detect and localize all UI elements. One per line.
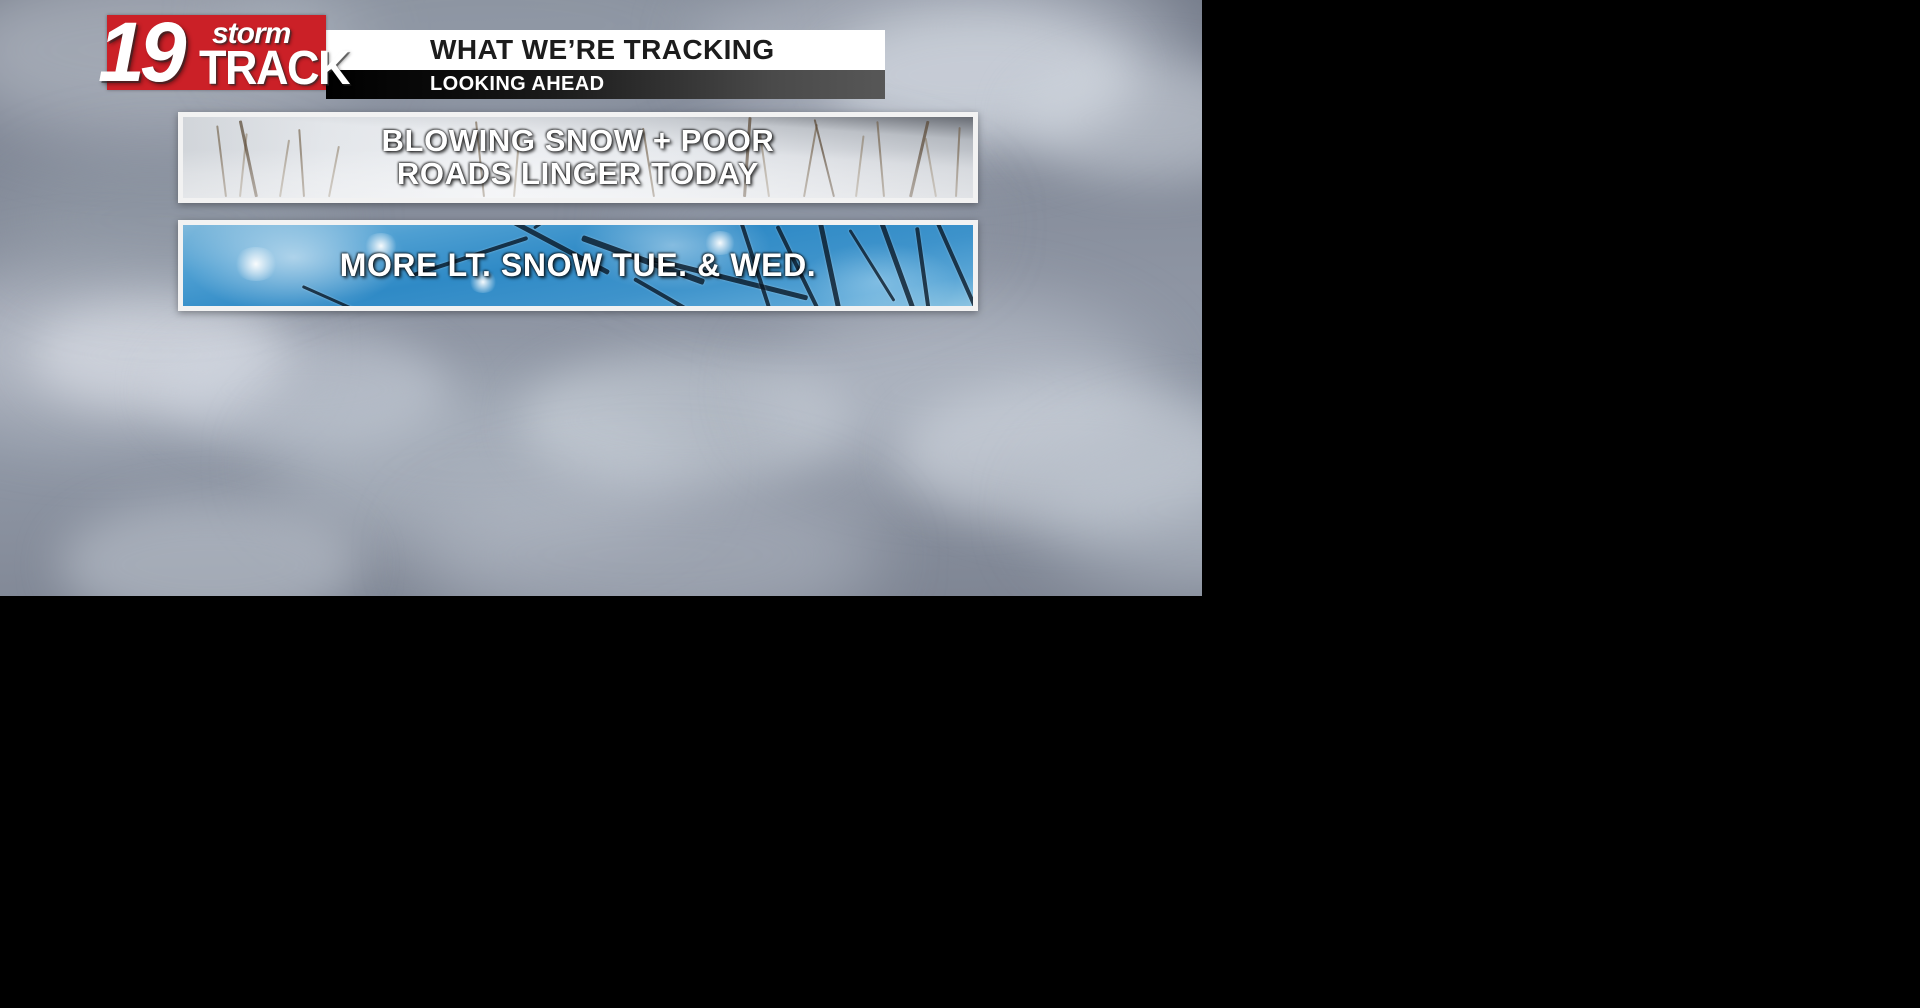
headline-banner-1-text: BLOWING SNOW + POOR ROADS LINGER TODAY: [382, 125, 775, 190]
headline-banner-1[interactable]: BLOWING SNOW + POOR ROADS LINGER TODAY: [178, 112, 978, 203]
ice-sparkle: [233, 247, 279, 281]
logo-word-track: TRACK: [199, 43, 349, 92]
ice-branch: [915, 227, 931, 306]
ice-branch: [878, 225, 918, 306]
title-bar-secondary: LOOKING AHEAD: [326, 70, 885, 99]
ice-branch: [302, 285, 385, 306]
ice-branch: [818, 225, 843, 306]
screenshot-root: WHAT WE’RE TRACKING LOOKING AHEAD storm …: [0, 0, 1920, 1008]
headline-banner-2-inner: MORE LT. SNOW TUE. & WED.: [183, 225, 973, 306]
header-lockup: WHAT WE’RE TRACKING LOOKING AHEAD storm …: [107, 15, 887, 90]
logo-channel-number: 19: [98, 10, 181, 94]
ice-branch: [935, 225, 973, 306]
page-title: WHAT WE’RE TRACKING: [430, 34, 775, 66]
page-subtitle: LOOKING AHEAD: [430, 73, 604, 96]
headline-banner-2[interactable]: MORE LT. SNOW TUE. & WED.: [178, 220, 978, 311]
broadcast-video-frame[interactable]: WHAT WE’RE TRACKING LOOKING AHEAD storm …: [0, 0, 1202, 596]
title-bar-primary: WHAT WE’RE TRACKING: [326, 30, 885, 70]
headline-banner-2-text: MORE LT. SNOW TUE. & WED.: [340, 249, 817, 283]
ice-branch: [533, 225, 593, 229]
headline-banner-1-inner: BLOWING SNOW + POOR ROADS LINGER TODAY: [183, 117, 973, 198]
